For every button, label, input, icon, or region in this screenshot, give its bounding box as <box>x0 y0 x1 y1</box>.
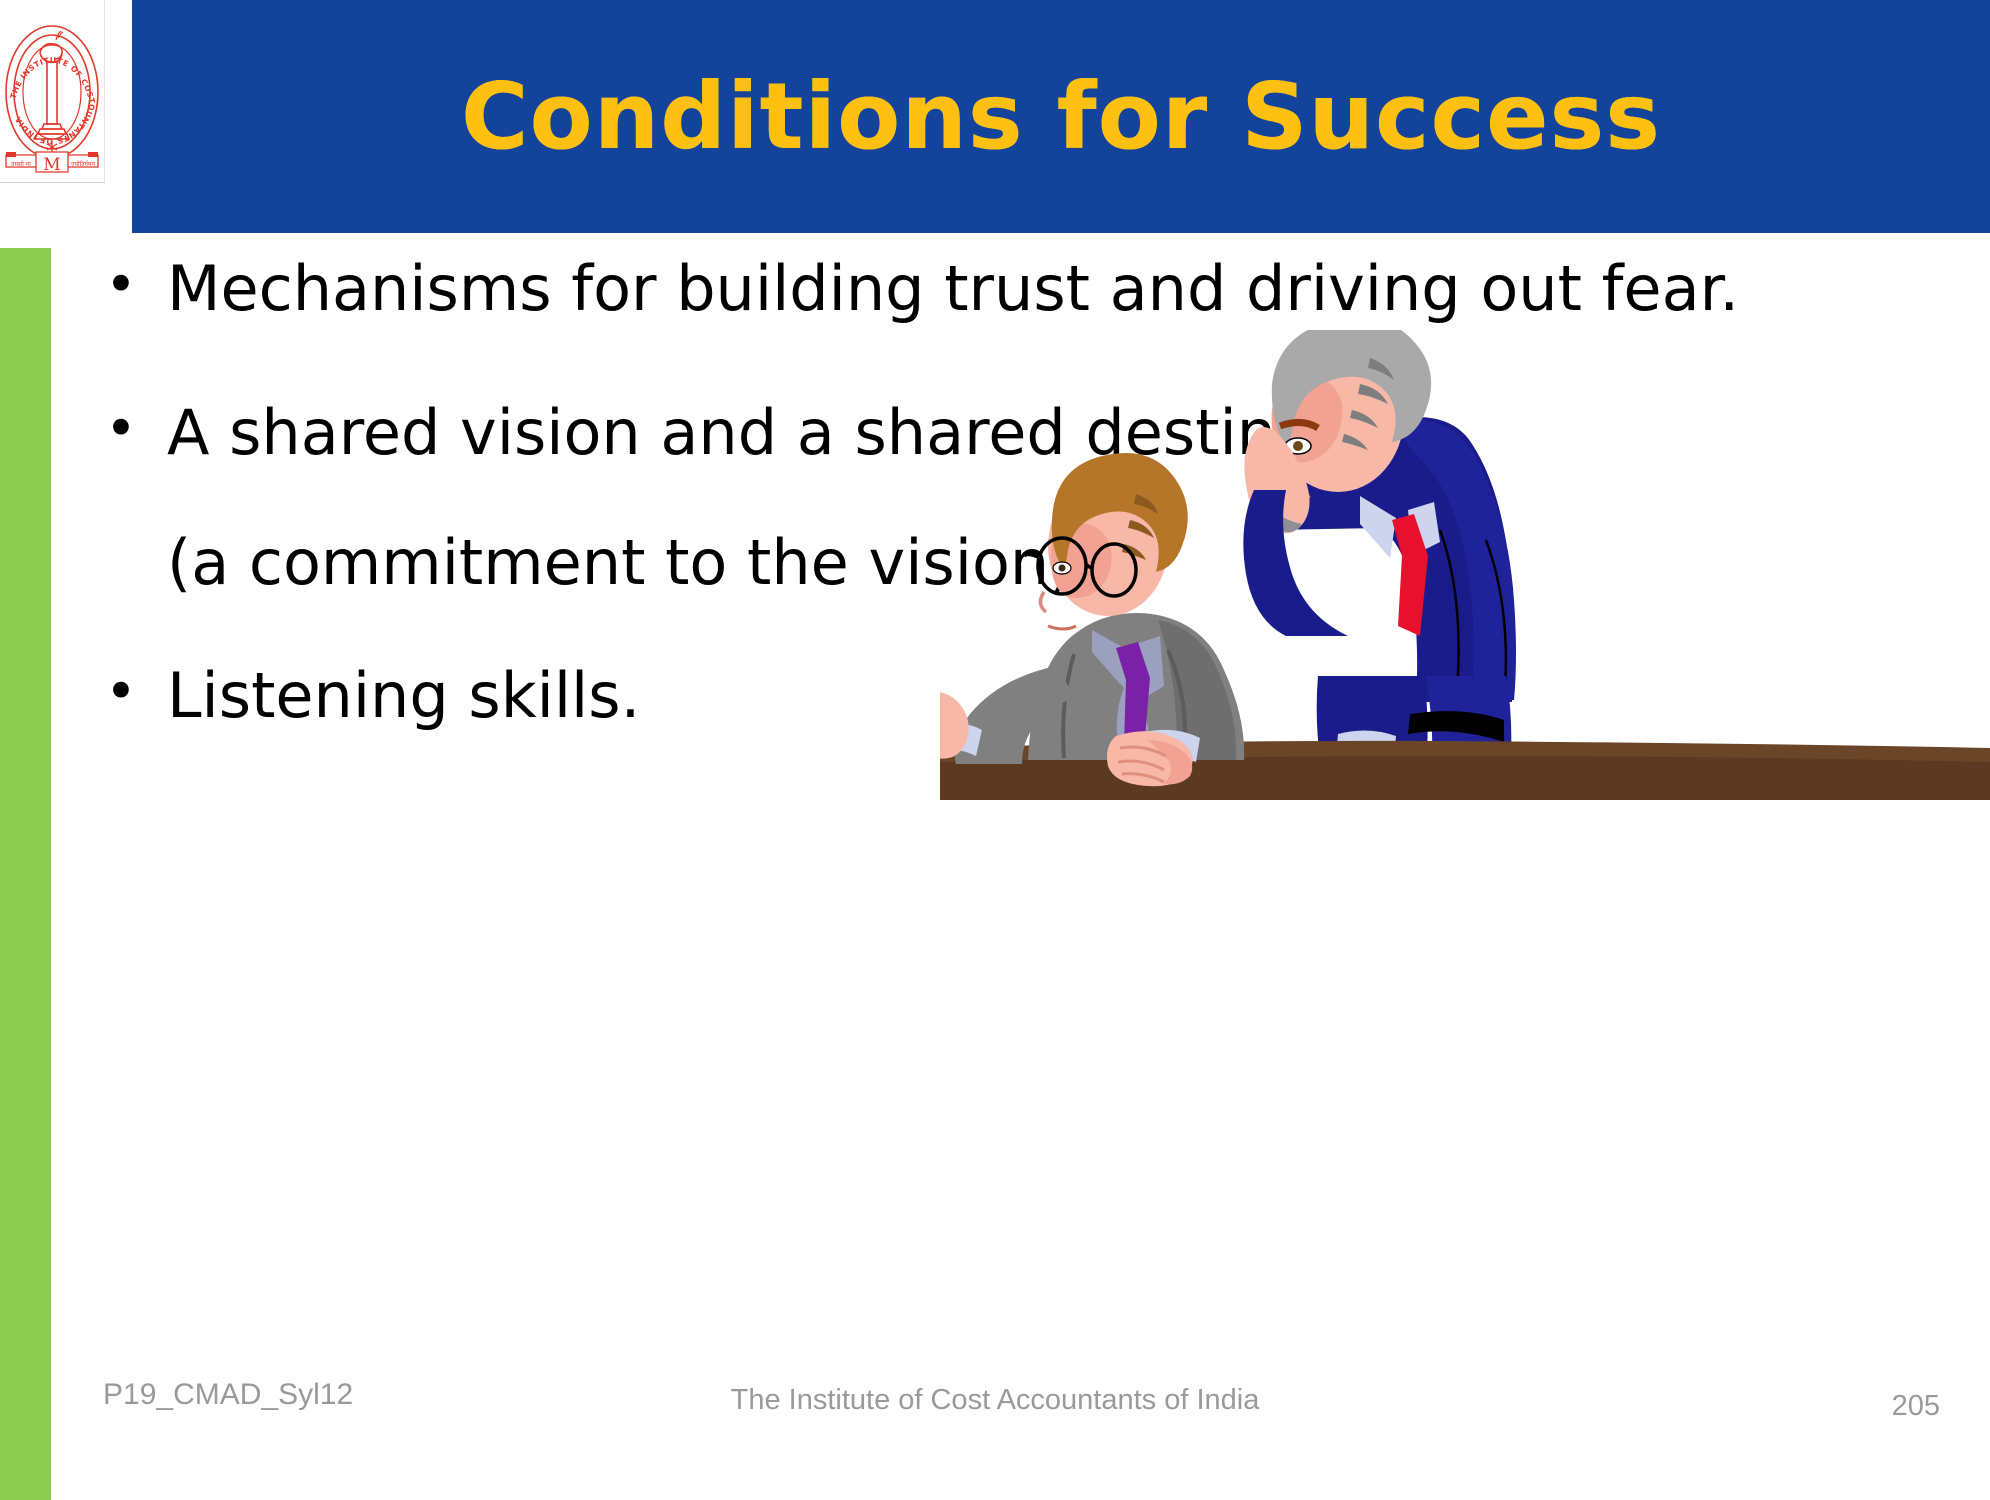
junior-pupil <box>1059 565 1066 572</box>
businessmen-illustration <box>940 330 1990 800</box>
institute-logo-icon: THE INSTITUTE OF COST ACC OUNTANTS OF IN… <box>0 0 104 182</box>
slide-footer: P19_CMAD_Syl12 The Institute of Cost Acc… <box>0 1378 1990 1438</box>
slide-page-number: 205 <box>1892 1390 1940 1423</box>
page-title: Conditions for Success <box>132 0 1990 233</box>
senior-pupil <box>1293 441 1303 451</box>
bullet-marker-icon: • <box>105 255 167 314</box>
svg-text:M: M <box>43 155 60 175</box>
institute-logo: THE INSTITUTE OF COST ACC OUNTANTS OF IN… <box>0 0 105 183</box>
bullet-text: Listening skills. <box>167 662 640 730</box>
bullet-text: Mechanisms for building trust and drivin… <box>167 255 1739 323</box>
bullet-marker-icon: • <box>105 662 167 721</box>
junior-nose <box>1040 592 1046 612</box>
svg-text:तमसो मा: तमसो मा <box>11 160 31 168</box>
bullet-item: • Mechanisms for building trust and driv… <box>105 255 1525 323</box>
junior-mouth <box>1048 626 1076 629</box>
slide-canvas: Conditions for Success THE INSTITUTE OF … <box>0 0 1990 1500</box>
svg-text:ज्योतिर्गमय: ज्योतिर्गमय <box>71 160 95 168</box>
footer-institute-name: The Institute of Cost Accountants of Ind… <box>0 1384 1990 1417</box>
bullet-marker-icon: • <box>105 399 167 458</box>
two-businessmen-at-desk-icon <box>940 330 1990 800</box>
left-accent-bar <box>0 248 51 1500</box>
